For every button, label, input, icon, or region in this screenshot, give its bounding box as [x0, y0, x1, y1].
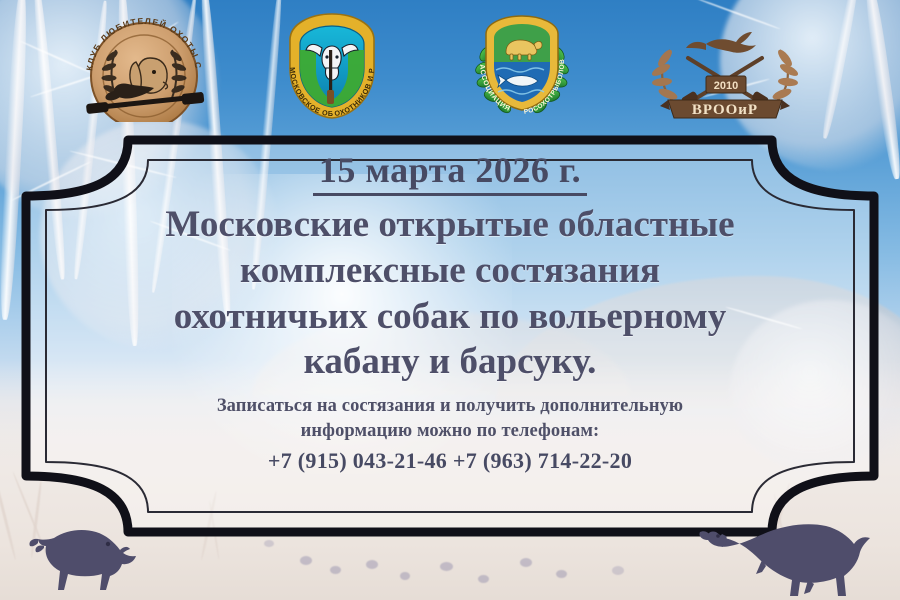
subtext-line-1: Записаться на состязания и получить допо… [217, 394, 683, 419]
headline-line-1: Московские открытые областные [165, 202, 734, 248]
plaque-text-block: 15 марта 2026 г. Московские открытые обл… [52, 150, 848, 528]
poster-canvas: КЛУБ ЛЮБИТЕЛЕЙ ОХОТЫ С ПОДРУЖЕЙНЫМИ СОБА… [0, 0, 900, 600]
headline-line-2: комплексные состязания [165, 248, 734, 294]
emblem-association-rosohotrybolovsoyuz: АССОЦИАЦИЯ РОСОХОТРЫБОЛОВСОЮЗ [470, 10, 574, 122]
headline-line-3: охотничьих собак по вольерному [165, 294, 734, 340]
emblem-row: КЛУБ ЛЮБИТЕЛЕЙ ОХОТЫ С ПОДРУЖЕЙНЫМИ СОБА… [0, 0, 900, 125]
headline-line-4: кабану и барсуку. [165, 339, 734, 385]
emblem-vrooir: 2010 ВРООиР [640, 14, 810, 122]
vrooir-name-text: ВРООиР [692, 102, 758, 118]
contact-phone-numbers: +7 (915) 043-21-46 +7 (963) 714-22-20 [268, 448, 632, 474]
emblem-club-of-gun-dog-hunting-lovers: КЛУБ ЛЮБИТЕЛЕЙ ОХОТЫ С ПОДРУЖЕЙНЫМИ СОБА… [70, 12, 218, 122]
subtext-line-2: информацию можно по телефонам: [217, 419, 683, 444]
pointer-dog-silhouette [696, 496, 886, 600]
emblem-moscow-society-of-hunters-and-fishermen: МОСКОВСКОЕ ОБЩЕСТВО ОХОТНИКОВ И РЫБОЛОВО… [282, 10, 382, 122]
vrooir-year-text: 2010 [714, 80, 738, 92]
wild-boar-silhouette [20, 516, 150, 594]
decorative-plaque: 15 марта 2026 г. Московские открытые обл… [8, 126, 892, 546]
registration-instructions: Записаться на состязания и получить допо… [217, 394, 683, 444]
event-date: 15 марта 2026 г. [313, 152, 587, 196]
event-headline: Московские открытые областные комплексны… [165, 202, 734, 386]
